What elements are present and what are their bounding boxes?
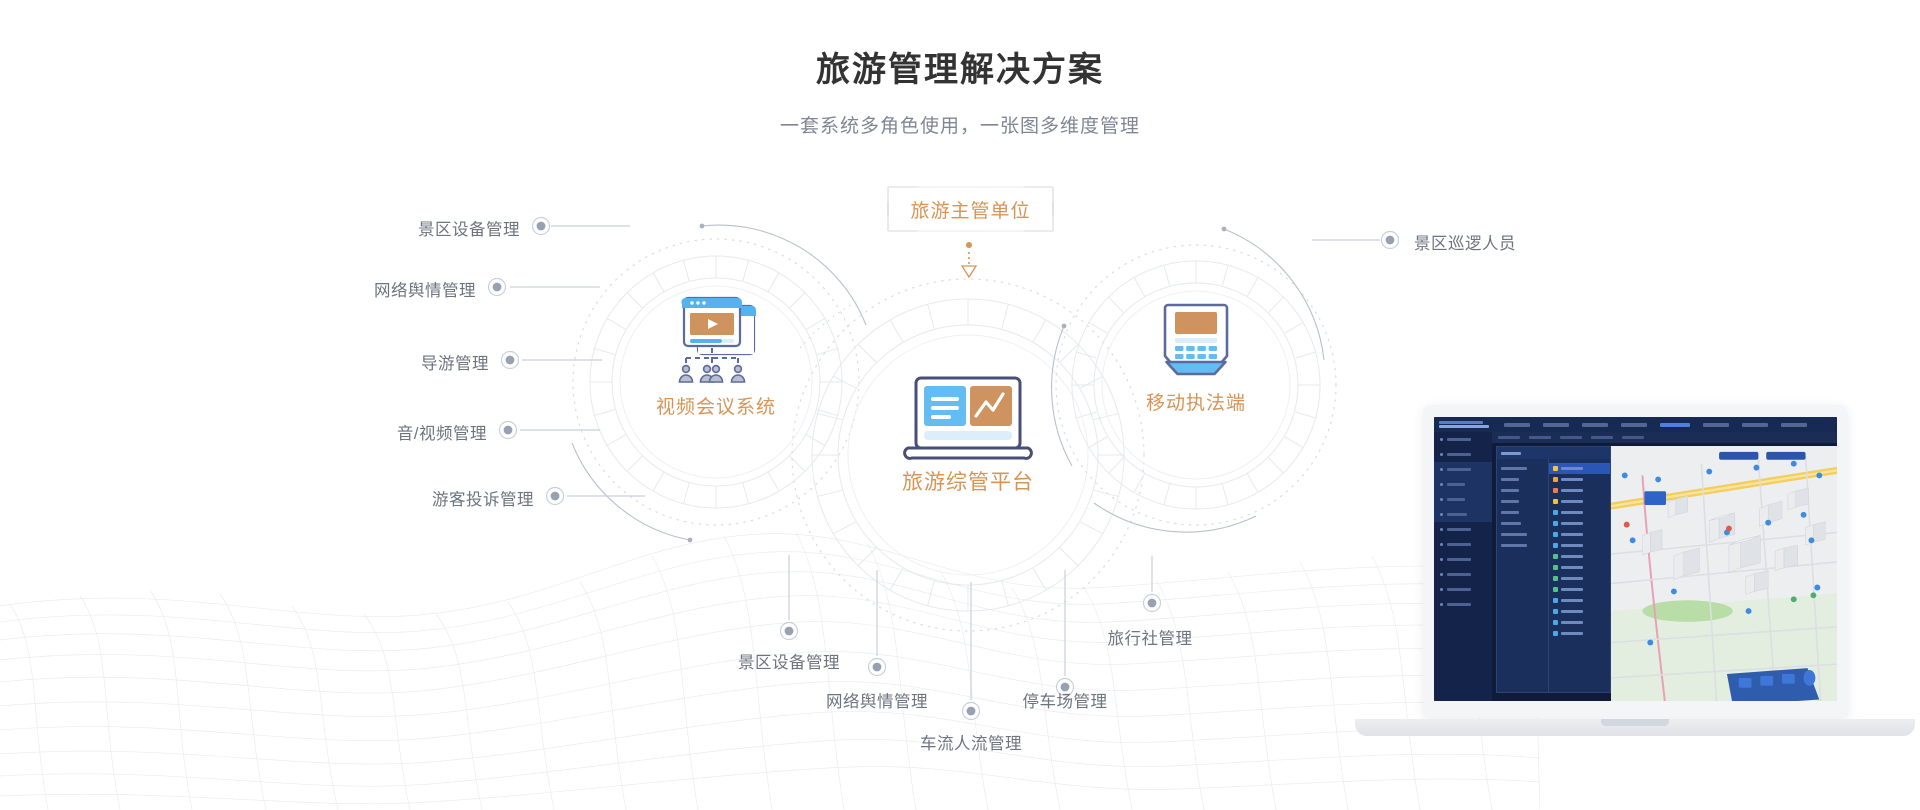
left-label-1[interactable]: 景区设备管理	[270, 216, 520, 240]
layer-tree[interactable]	[1497, 459, 1549, 692]
right-label-1[interactable]: 景区巡逻人员	[1414, 230, 1516, 254]
dashboard-map[interactable]	[1611, 446, 1837, 701]
caption-tourism-platform: 旅游综管平台	[886, 466, 1050, 496]
left-dots	[489, 218, 564, 505]
laptop-notch	[1601, 719, 1669, 726]
dashboard-sidebar[interactable]	[1434, 432, 1492, 701]
page-root: 旅游管理解决方案 一套系统多角色使用，一张图多维度管理	[0, 0, 1920, 810]
circle-video-conference	[572, 224, 866, 543]
bottom-label-4[interactable]: 停车场管理	[1003, 688, 1127, 712]
dashboard-nav[interactable]	[1504, 423, 1807, 427]
laptop-screen	[1434, 417, 1837, 701]
authority-arrow-icon	[962, 242, 976, 277]
bottom-label-2[interactable]: 网络舆情管理	[815, 688, 939, 712]
dashboard-logo	[1434, 419, 1492, 430]
authority-box-label: 旅游主管单位	[910, 196, 1030, 223]
left-label-5[interactable]: 游客投诉管理	[284, 486, 534, 510]
bottom-label-1[interactable]: 景区设备管理	[727, 649, 851, 673]
right-connectors	[1312, 232, 1399, 249]
authority-box[interactable]: 旅游主管单位	[888, 187, 1053, 231]
left-label-4[interactable]: 音/视频管理	[237, 420, 487, 444]
laptop-dashboard-icon	[905, 378, 1032, 458]
dashboard-tabs[interactable]	[1492, 432, 1837, 443]
dashboard-topbar	[1434, 417, 1837, 432]
layer-items[interactable]	[1549, 459, 1610, 692]
bottom-label-5[interactable]: 旅行社管理	[1043, 625, 1257, 649]
handheld-device-icon	[1165, 305, 1227, 374]
bottom-label-3[interactable]: 车流人流管理	[909, 730, 1033, 754]
laptop-body	[1423, 405, 1848, 717]
caption-mobile-enforcement: 移动执法端	[1126, 388, 1266, 415]
caption-video-conference: 视频会议系统	[636, 392, 796, 419]
video-window-icon	[680, 298, 757, 382]
left-label-3[interactable]: 导游管理	[239, 350, 489, 374]
dashboard-layer-panel[interactable]	[1496, 446, 1611, 693]
laptop-mockup	[1355, 405, 1915, 795]
left-label-2[interactable]: 网络舆情管理	[226, 277, 476, 301]
